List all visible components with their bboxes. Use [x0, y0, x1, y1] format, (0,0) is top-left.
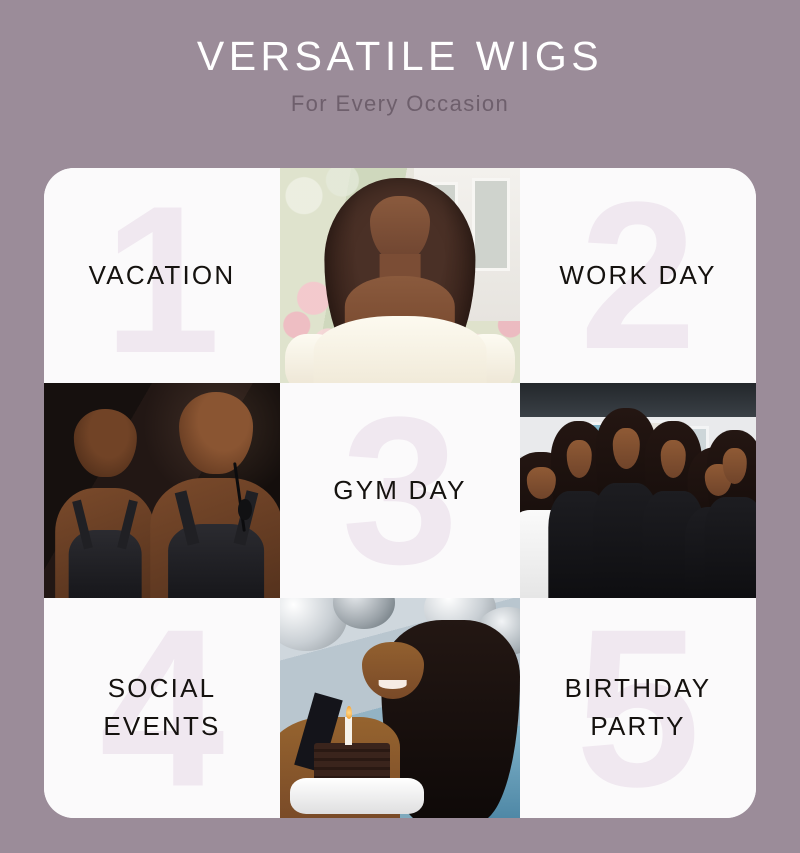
page-header: VERSATILE WIGS For Every Occasion — [0, 0, 800, 160]
grid-cell-gym-day[interactable]: 3 GYM DAY — [280, 383, 520, 598]
occasion-grid-card: 1 VACATION 2 — [44, 168, 756, 818]
photo-woman-curly-hair-garden — [280, 168, 520, 383]
grid-cell-social-events[interactable]: 4 SOCIAL EVENTS — [44, 598, 280, 818]
page-subtitle: For Every Occasion — [291, 93, 509, 115]
grid-photo-work-day[interactable] — [520, 383, 756, 598]
grid-photo-vacation[interactable] — [280, 168, 520, 383]
plate-shape — [290, 778, 424, 813]
candle-icon — [345, 717, 352, 746]
grid-cell-vacation[interactable]: 1 VACATION — [44, 168, 280, 383]
grid-cell-label-vacation: VACATION — [81, 257, 244, 295]
grid-cell-work-day[interactable]: 2 WORK DAY — [520, 168, 756, 383]
head-shape — [179, 392, 253, 475]
photo-woman-birthday-cake-candle — [280, 598, 520, 818]
photo-two-women-gym-athletic — [44, 383, 280, 598]
photo-group-women-office-black-suits — [520, 383, 756, 598]
body-shape — [704, 497, 756, 598]
grid-cell-label-gym-day: GYM DAY — [325, 472, 474, 510]
smile-shape — [378, 680, 407, 689]
grid-photo-birthday[interactable] — [280, 598, 520, 818]
figure-foreground — [148, 392, 280, 598]
figure-6 — [704, 435, 756, 598]
grid-cell-birthday-party[interactable]: 5 BIRTHDAY PARTY — [520, 598, 756, 818]
grid-photo-gym[interactable] — [44, 383, 280, 598]
face-shape — [567, 440, 592, 478]
figure-background — [53, 409, 157, 598]
sports-top-shape — [69, 530, 142, 598]
grid-cell-label-work-day: WORK DAY — [551, 257, 724, 295]
photo-frame — [520, 383, 756, 598]
grid-cell-label-social-events: SOCIAL EVENTS — [95, 670, 228, 745]
page-title: VERSATILE WIGS — [197, 36, 603, 77]
window-icon — [472, 178, 510, 272]
occasion-grid: 1 VACATION 2 — [44, 168, 756, 818]
photo-frame — [280, 598, 520, 818]
white-dress-shape — [314, 316, 487, 383]
sports-top-shape — [168, 524, 264, 598]
photo-frame — [280, 168, 520, 383]
head-shape — [74, 409, 136, 477]
earphone-bud-icon — [238, 499, 252, 520]
flame-icon — [346, 706, 352, 719]
face-shape — [722, 448, 747, 484]
grid-cell-label-birthday-party: BIRTHDAY PARTY — [557, 670, 720, 745]
photo-frame — [44, 383, 280, 598]
face-shape — [661, 440, 686, 478]
